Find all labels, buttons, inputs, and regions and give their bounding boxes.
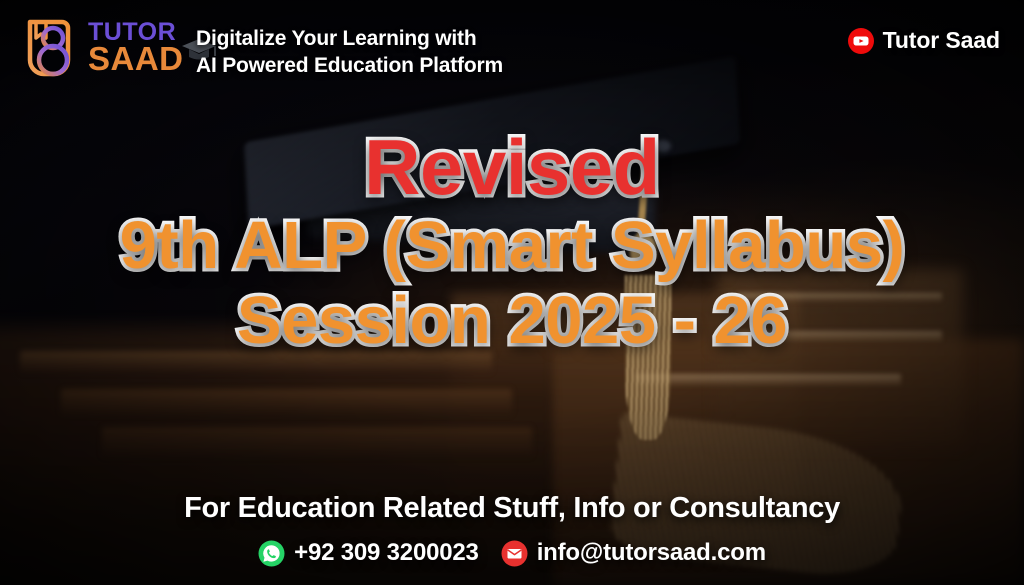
title-line-syllabus: 9th ALP (Smart Syllabus) <box>0 212 1024 279</box>
contact-email-address: info@tutorsaad.com <box>537 539 766 567</box>
brand-logo-saad-text: SAAD <box>88 44 184 74</box>
title-line-session: Session 2025 - 26 <box>0 287 1024 354</box>
contact-phone-number: +92 309 3200023 <box>294 539 479 567</box>
youtube-icon <box>848 28 874 54</box>
poster-header: TUTOR SAAD Digitalize Your Learning with… <box>0 0 1024 102</box>
tagline-line-1: Digitalize Your Learning with <box>196 26 503 53</box>
footer-heading: For Education Related Stuff, Info or Con… <box>0 492 1024 525</box>
youtube-channel-badge[interactable]: Tutor Saad <box>848 27 1000 54</box>
youtube-channel-name: Tutor Saad <box>883 27 1000 54</box>
email-icon <box>501 540 528 567</box>
contact-row: +92 309 3200023 info@tutorsaad.com <box>0 539 1024 567</box>
contact-email[interactable]: info@tutorsaad.com <box>501 539 766 567</box>
poster-title-block: Revised 9th ALP (Smart Syllabus) Session… <box>0 128 1024 354</box>
brand-logo[interactable]: TUTOR SAAD <box>22 12 184 84</box>
poster-footer: For Education Related Stuff, Info or Con… <box>0 492 1024 567</box>
contact-whatsapp[interactable]: +92 309 3200023 <box>258 539 479 567</box>
open-book-person-logo-icon <box>22 12 84 84</box>
poster-canvas: TUTOR SAAD Digitalize Your Learning with… <box>0 0 1024 585</box>
brand-logo-wordmark: TUTOR SAAD <box>88 21 184 74</box>
tagline-line-2: AI Powered Education Platform <box>196 53 503 80</box>
header-tagline: Digitalize Your Learning with AI Powered… <box>196 26 503 79</box>
title-line-revised: Revised <box>0 128 1024 206</box>
whatsapp-icon <box>258 540 285 567</box>
